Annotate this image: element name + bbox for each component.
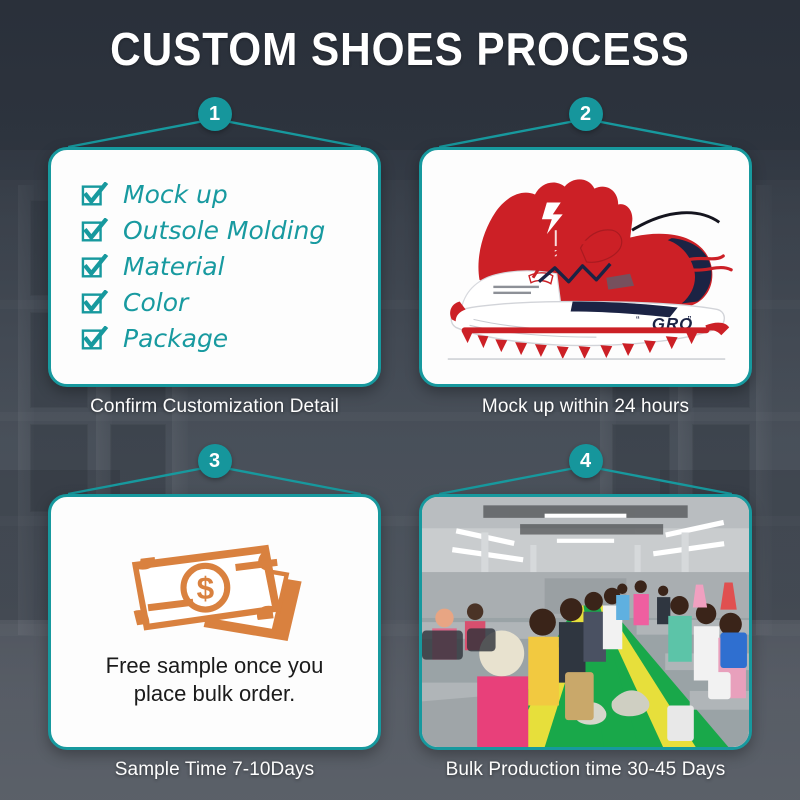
step-1-badge: 1 (198, 97, 232, 131)
checklist-item-label: Package (123, 324, 228, 353)
checklist-item[interactable]: Mock up (81, 180, 378, 209)
step-1-hanger: 1 (48, 95, 381, 147)
factory-production-line-illustration (422, 497, 749, 747)
checkbox-checked-icon[interactable] (81, 218, 109, 244)
customization-checklist: Mock up Outsole Molding Material (51, 167, 378, 366)
checkbox-checked-icon[interactable] (81, 290, 109, 316)
checklist-item-label: Material (123, 252, 225, 281)
sample-policy-text: Free sample once you place bulk order. (90, 652, 340, 708)
process-step-2: 2 (419, 95, 752, 422)
step-3-hanger: 3 (48, 442, 381, 494)
sample-policy-line-2: place bulk order. (106, 680, 324, 708)
checklist-item[interactable]: Color (81, 288, 378, 317)
checklist-item-label: Mock up (123, 180, 228, 209)
step-3-card[interactable]: $ Free sample once you place bulk order. (48, 494, 381, 750)
shoe-brand-quote-right: ” (688, 314, 692, 326)
checklist-item[interactable]: Package (81, 324, 378, 353)
process-step-3: 3 (48, 442, 381, 785)
step-1-caption: Confirm Customization Detail (48, 396, 381, 422)
checklist-item[interactable]: Material (81, 252, 378, 281)
factory-workers-center (616, 580, 670, 625)
page-title: CUSTOM SHOES PROCESS (32, 22, 768, 76)
step-3-caption: Sample Time 7-10Days (48, 759, 381, 785)
red-running-shoe-illustration: GRO “ ” (422, 150, 749, 384)
step-4-card[interactable] (419, 494, 752, 750)
sample-policy-line-1: Free sample once you (106, 652, 324, 680)
step-4-badge: 4 (569, 444, 603, 478)
step-2-caption: Mock up within 24 hours (419, 396, 752, 422)
shoe-heel-arc (632, 213, 719, 231)
step-3-badge: 3 (198, 444, 232, 478)
shoe-brand-quote-left: “ (636, 314, 640, 326)
process-steps-grid: 1 Mock up Outsole Molding (0, 95, 800, 785)
factory-photo (422, 497, 749, 747)
checkbox-checked-icon[interactable] (81, 254, 109, 280)
step-2-badge: 2 (569, 97, 603, 131)
checklist-item-label: Color (123, 288, 188, 317)
checkbox-checked-icon[interactable] (81, 182, 109, 208)
process-step-4: 4 (419, 442, 752, 785)
checklist-item-label: Outsole Molding (123, 216, 325, 245)
step-4-caption: Bulk Production time 30-45 Days (419, 759, 752, 785)
step-2-hanger: 2 (419, 95, 752, 147)
dollar-symbol: $ (196, 570, 214, 606)
checklist-item[interactable]: Outsole Molding (81, 216, 378, 245)
money-banknotes-icon: $ (110, 536, 320, 648)
step-4-hanger: 4 (419, 442, 752, 494)
checkbox-checked-icon[interactable] (81, 326, 109, 352)
step-2-card[interactable]: GRO “ ” (419, 147, 752, 387)
shoe-image-container: GRO “ ” (422, 150, 749, 384)
step-1-card[interactable]: Mock up Outsole Molding Material (48, 147, 381, 387)
process-step-1: 1 Mock up Outsole Molding (48, 95, 381, 422)
